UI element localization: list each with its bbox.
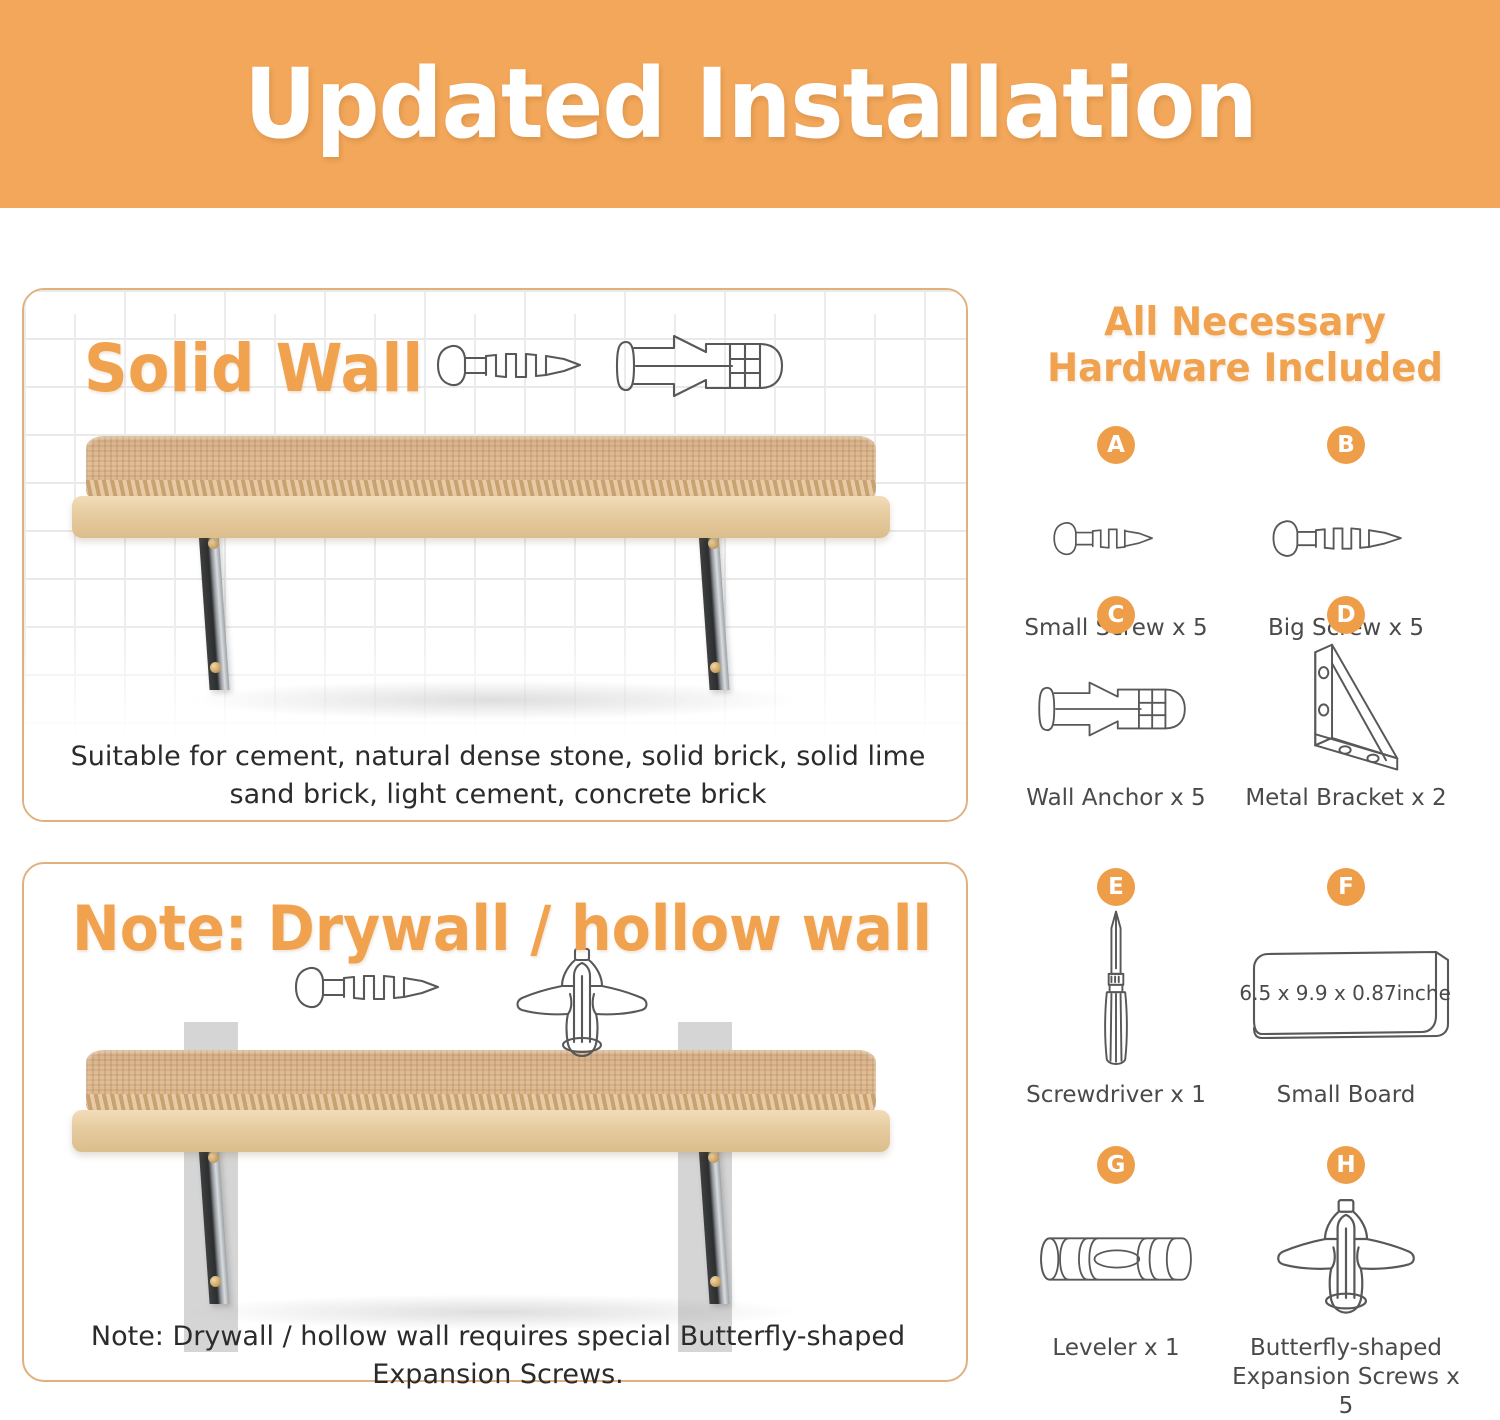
small-board-dimensions: 16.5 x 9.9 x 0.87inches: [1240, 981, 1452, 1005]
hardware-item-g: G Leveler x 1: [1002, 1146, 1230, 1363]
bracket-screw-right-top-drywall: [708, 1152, 719, 1163]
panel-caption-drywall: Note: Drywall / hollow wall requires spe…: [62, 1318, 934, 1395]
shelf-illustration-drywall: [64, 1044, 924, 1334]
panel-heading-solid-wall: Solid Wall: [84, 330, 423, 407]
hardware-item-h: H Butterfly-shapedExpansion Screws x 5: [1232, 1146, 1460, 1420]
hardware-label-h: Butterfly-shapedExpansion Screws x 5: [1232, 1334, 1460, 1420]
bracket-screw-right-top: [708, 538, 719, 549]
shelf-woven-top-drywall: [86, 1050, 876, 1116]
bracket-screw-right-bottom: [710, 662, 721, 673]
header-banner: Updated Installation: [0, 0, 1500, 208]
hardware-item-f: F 16.5 x 9.9 x 0.87inches Small Board: [1232, 868, 1460, 1110]
hardware-list-title: All NecessaryHardware Included: [1012, 300, 1478, 392]
bracket-screw-left-bottom-drywall: [210, 1276, 221, 1287]
hardware-label-d: Metal Bracket x 2: [1232, 784, 1460, 813]
wall-anchor-icon-solid: [614, 332, 794, 400]
big-screw-icon: [1232, 464, 1460, 614]
shelf-wood-edge: [72, 496, 890, 538]
metal-bracket-icon: [1232, 634, 1460, 784]
hardware-badge-e: E: [1097, 868, 1135, 906]
bracket-screw-left-top-drywall: [208, 1152, 219, 1163]
hardware-badge-a: A: [1097, 426, 1135, 464]
bracket-screw-left-bottom: [210, 662, 221, 673]
bracket-screw-left-top: [208, 538, 219, 549]
hardware-badge-c: C: [1097, 596, 1135, 634]
hardware-item-e: E Screwdriver x 1: [1002, 868, 1230, 1110]
small-board-icon: 16.5 x 9.9 x 0.87inches: [1232, 906, 1460, 1081]
hardware-label-e: Screwdriver x 1: [1002, 1081, 1230, 1110]
screwdriver-icon: [1002, 906, 1230, 1081]
hardware-badge-f: F: [1327, 868, 1365, 906]
butterfly-anchor-icon: [1232, 1184, 1460, 1334]
hardware-label-g: Leveler x 1: [1002, 1334, 1230, 1363]
wall-anchor-icon: [1002, 634, 1230, 784]
hardware-badge-b: B: [1327, 426, 1365, 464]
hardware-badge-d: D: [1327, 596, 1365, 634]
shelf-illustration-solid: [64, 430, 924, 720]
hardware-badge-g: G: [1097, 1146, 1135, 1184]
panel-heading-drywall: Note: Drywall / hollow wall: [72, 892, 932, 965]
shelf-woven-top: [86, 436, 876, 502]
hardware-item-d: D Metal Bracket x 2: [1232, 596, 1460, 813]
hardware-label-c: Wall Anchor x 5: [1002, 784, 1230, 813]
shelf-wood-edge-drywall: [72, 1110, 890, 1152]
page-title: Updated Installation: [244, 48, 1257, 160]
screw-icon-solid: [434, 340, 606, 392]
bracket-screw-right-bottom-drywall: [710, 1276, 721, 1287]
hardware-badge-h: H: [1327, 1146, 1365, 1184]
hardware-label-f: Small Board: [1232, 1081, 1460, 1110]
panel-caption-solid-wall: Suitable for cement, natural dense stone…: [62, 738, 934, 815]
small-screw-icon: [1002, 464, 1230, 614]
screw-icon-drywall: [292, 962, 464, 1014]
hardware-item-c: C Wall Anchor x 5: [1002, 596, 1230, 813]
hardware-list: All NecessaryHardware Included A Small S…: [1000, 296, 1490, 1386]
leveler-icon: [1002, 1184, 1230, 1334]
